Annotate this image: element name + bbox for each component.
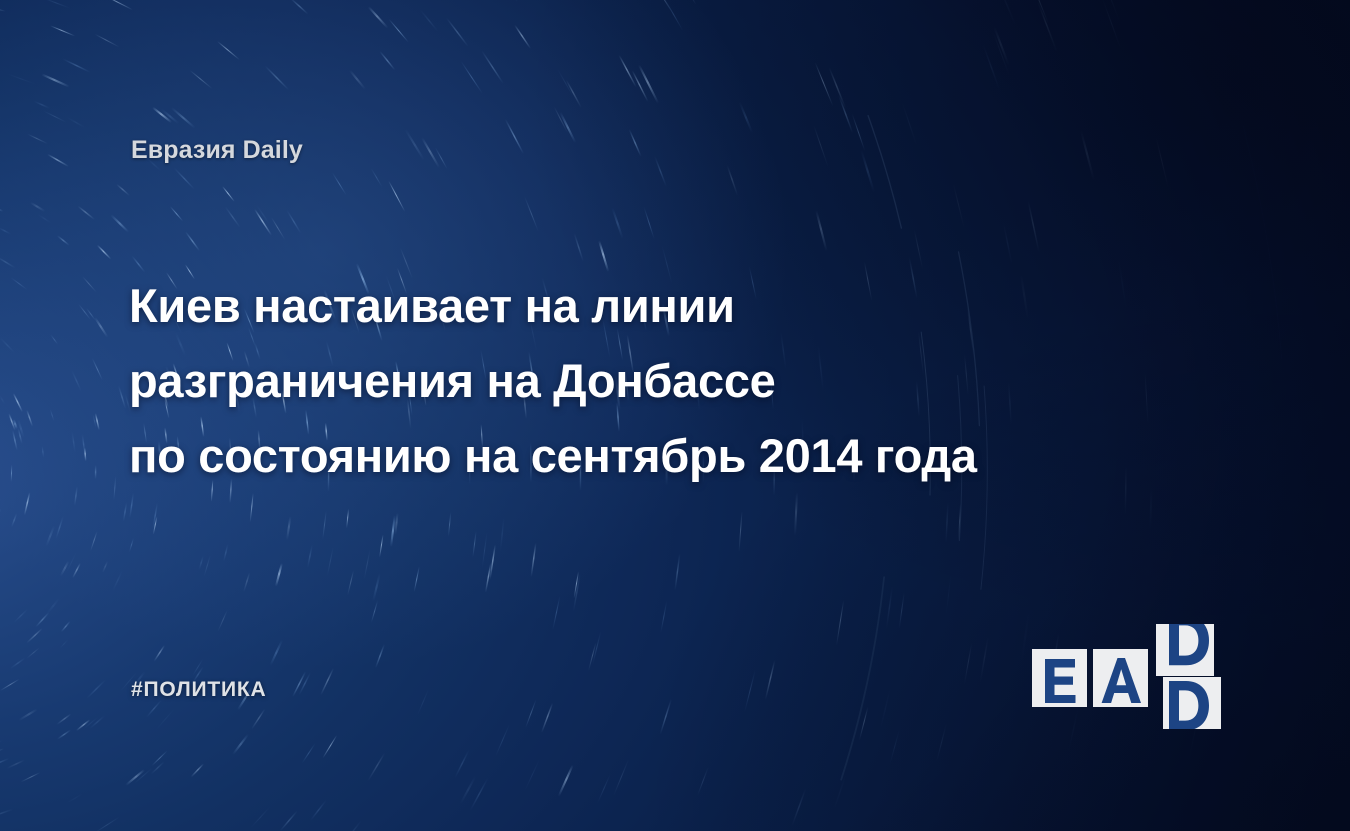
letter-d-upper-glyph [1169,624,1209,665]
letter-a-glyph [1102,658,1141,703]
social-share-card: Евразия Daily Киев настаивает на линии р… [0,0,1350,831]
headline-line-3: по состоянию на сентябрь 2014 года [129,418,1209,493]
letter-e-glyph [1045,659,1076,703]
page-title: Киев настаивает на линии разграничения н… [129,268,1209,493]
logo-tile-letter-d-upper [1156,624,1214,676]
logo-tile-letter-d-lower [1163,677,1221,729]
logo-tile-letter-a [1093,649,1148,707]
letter-d-lower-glyph [1169,681,1209,729]
card-content: Евразия Daily Киев настаивает на линии р… [0,0,1350,831]
logo-tile-letter-e [1032,649,1087,707]
brand-name: Евразия Daily [131,136,303,165]
eadaily-logo[interactable] [1032,624,1222,708]
headline-line-1: Киев настаивает на линии [129,268,1209,343]
headline-line-2: разграничения на Донбассе [129,343,1209,418]
category-hashtag[interactable]: #ПОЛИТИКА [131,678,267,702]
